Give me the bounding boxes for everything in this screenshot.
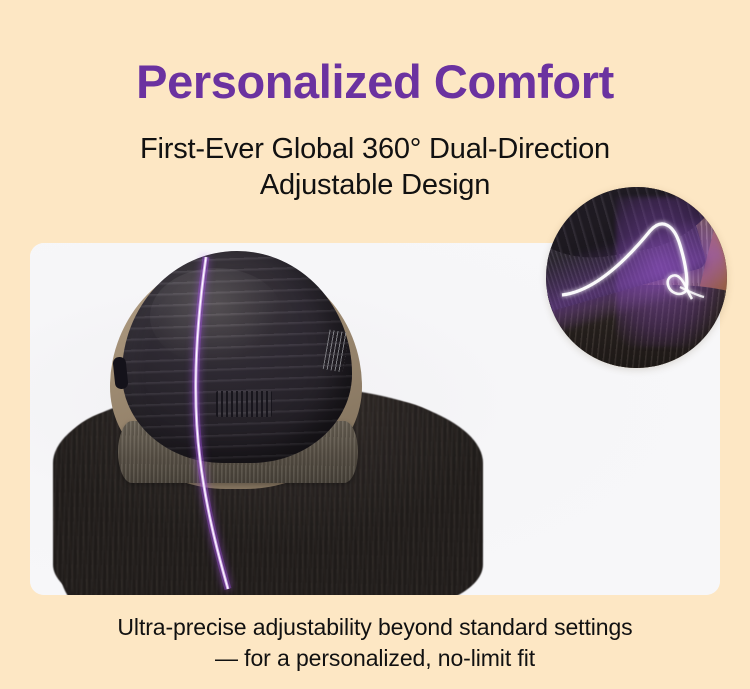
footer-caption: Ultra-precise adjustability beyond stand… xyxy=(0,612,750,674)
promo-banner: Personalized Comfort First-Ever Global 3… xyxy=(0,0,750,689)
detail-zoom-inset xyxy=(546,187,727,368)
comb-clip-bottom xyxy=(216,391,272,417)
footer-caption-line-1: Ultra-precise adjustability beyond stand… xyxy=(0,612,750,643)
footer-caption-line-2: — for a personalized, no-limit fit xyxy=(0,643,750,674)
page-title: Personalized Comfort xyxy=(0,53,750,111)
cap-highlight xyxy=(150,268,283,366)
wig-cap-dome xyxy=(122,251,352,463)
wig-product-image xyxy=(88,243,418,595)
subtitle-line-1: First-Ever Global 360° Dual-Direction xyxy=(0,131,750,167)
inset-adjust-path-line xyxy=(546,187,727,368)
inset-scene xyxy=(546,187,727,368)
